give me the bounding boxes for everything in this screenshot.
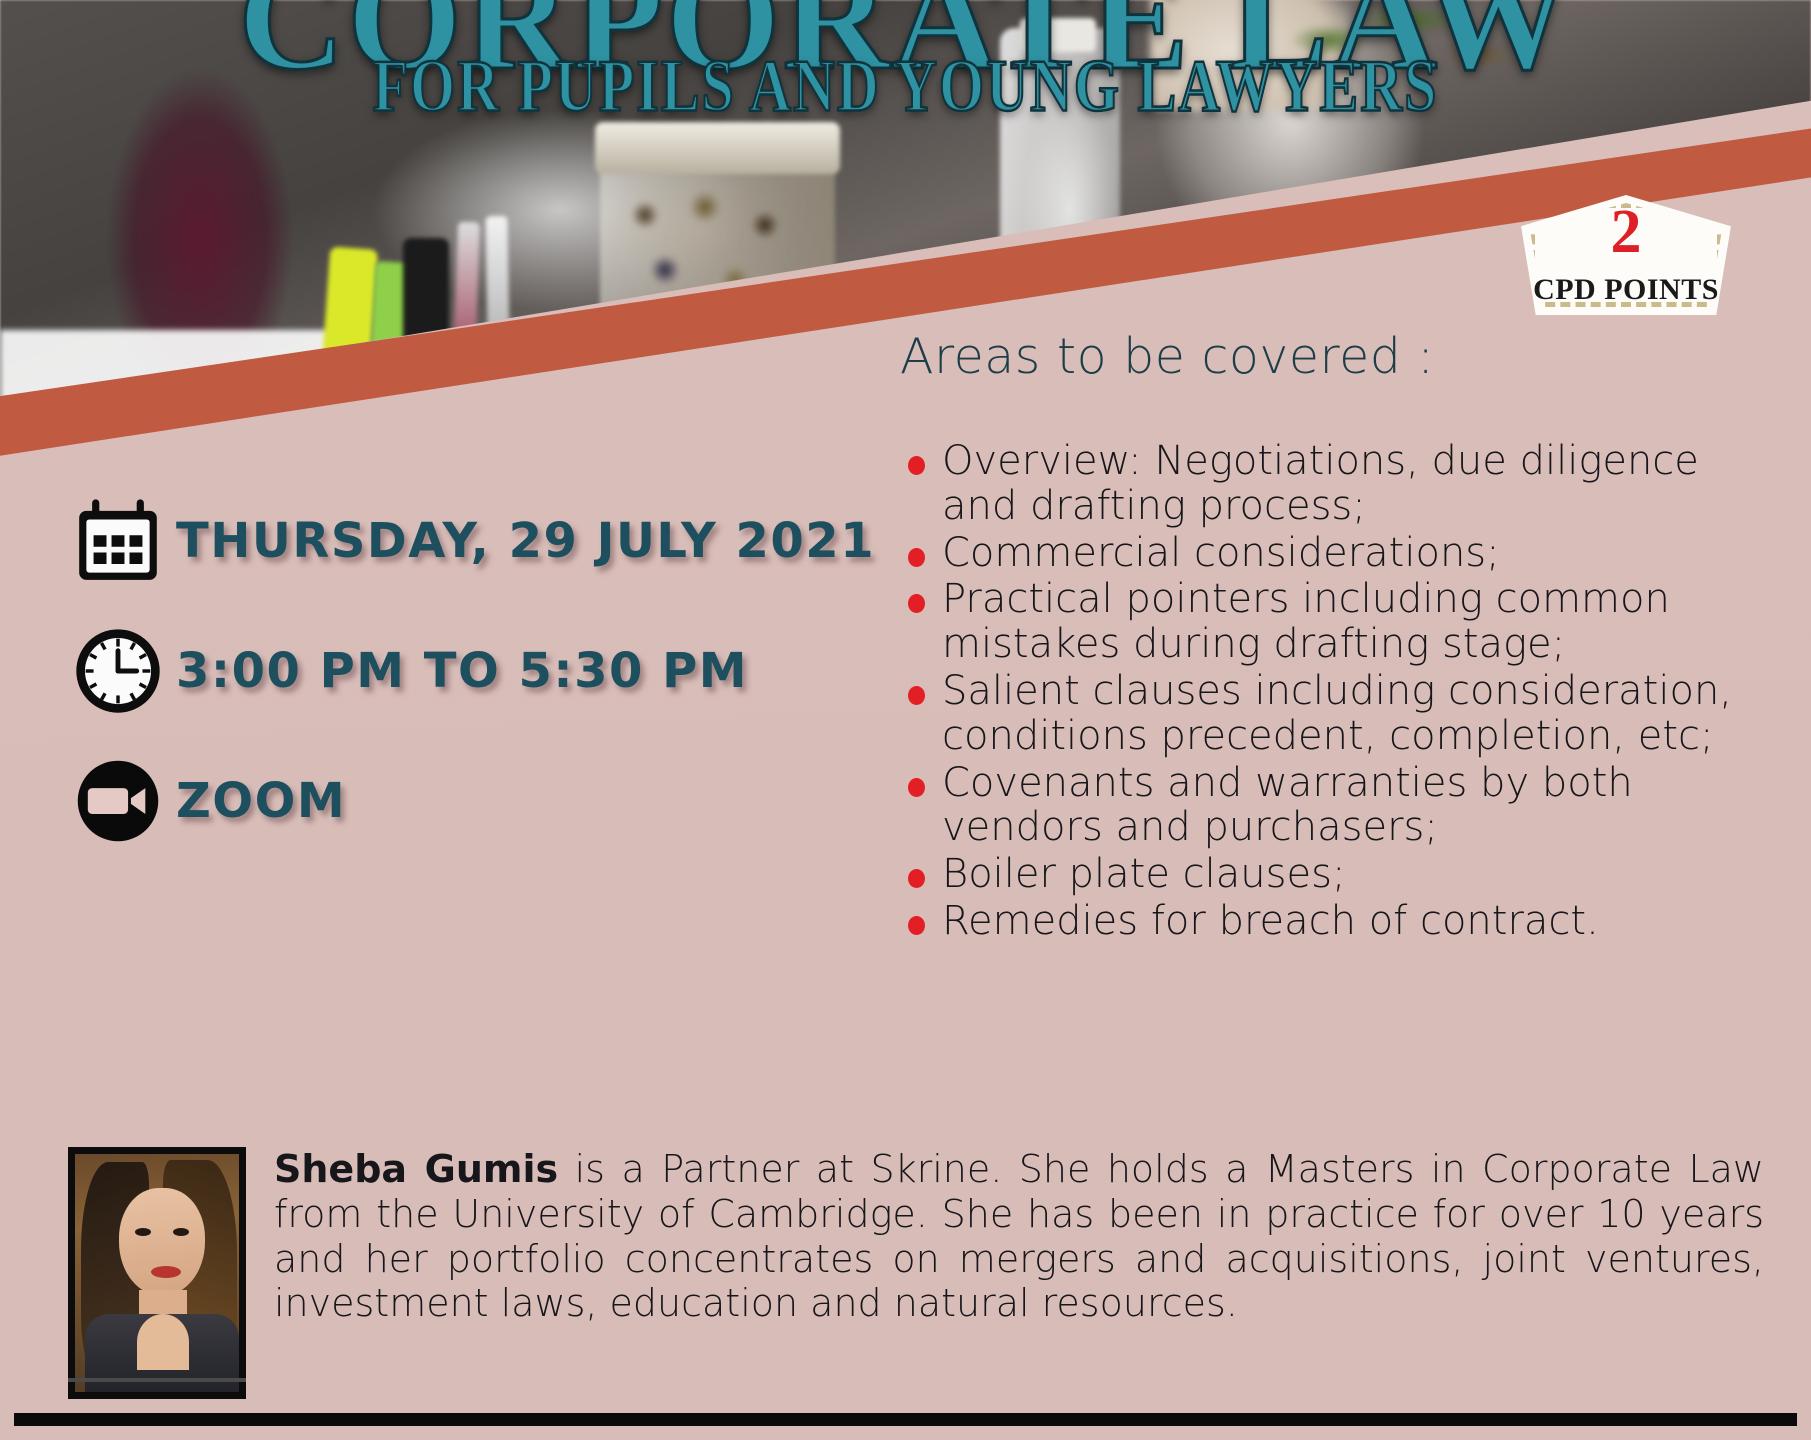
bullet-dot-icon (908, 548, 925, 567)
page-subtitle: FOR PUPILS AND YOUNG LAWYERS (373, 43, 1439, 129)
list-item: Covenants and warranties by both vendors… (900, 761, 1780, 851)
calendar-icon (72, 495, 176, 587)
avatar-lips (151, 1266, 181, 1278)
bullet-dot-icon (908, 916, 925, 935)
list-item-label: Salient clauses including consideration,… (942, 668, 1732, 759)
avatar (68, 1147, 246, 1399)
avatar-eye-left (135, 1228, 151, 1236)
avatar-neckline (137, 1314, 189, 1370)
list-item-label: Practical pointers including common mist… (942, 576, 1670, 667)
list-item: Remedies for breach of contract. (900, 899, 1780, 944)
avatar-eye-right (173, 1228, 189, 1236)
list-item: Overview: Negotiations, due diligence an… (900, 439, 1780, 529)
areas-to-be-covered-section: Areas to be covered : Overview: Negotiat… (900, 328, 1780, 946)
event-date-text: THURSDAY, 29 JULY 2021 (176, 513, 875, 569)
clock-icon (72, 625, 176, 717)
event-details-block: THURSDAY, 29 JULY 2021 (72, 482, 875, 860)
bullet-dot-icon (908, 456, 925, 475)
event-date-row: THURSDAY, 29 JULY 2021 (72, 482, 875, 600)
list-item-label: Overview: Negotiations, due diligence an… (942, 438, 1699, 529)
speaker-section: Sheba Gumis is a Partner at Skrine. She … (68, 1147, 1764, 1399)
cpd-points-badge: 2 CPD POINTS (1521, 195, 1731, 315)
footer-bar (14, 1413, 1797, 1426)
areas-bullet-list: Overview: Negotiations, due diligence an… (900, 439, 1780, 944)
list-item: Salient clauses including consideration,… (900, 669, 1780, 759)
divider-small (68, 1378, 246, 1382)
event-platform-text: ZOOM (176, 773, 346, 829)
list-item: Boiler plate clauses; (900, 852, 1780, 897)
avatar-face (119, 1188, 205, 1296)
list-item: Practical pointers including common mist… (900, 577, 1780, 667)
list-item-label: Covenants and warranties by both vendors… (942, 760, 1633, 851)
bullet-dot-icon (908, 778, 925, 797)
event-time-text: 3:00 PM TO 5:30 PM (176, 643, 748, 699)
speaker-bio: Sheba Gumis is a Partner at Skrine. She … (274, 1147, 1764, 1399)
video-camera-icon (72, 755, 176, 847)
speaker-name: Sheba Gumis (274, 1147, 558, 1191)
cpd-points-label: CPD POINTS (1521, 273, 1731, 307)
bullet-dot-icon (908, 869, 925, 888)
list-item: Commercial considerations; (900, 531, 1780, 576)
event-platform-row: ZOOM (72, 742, 875, 860)
list-item-label: Remedies for breach of contract. (942, 898, 1599, 944)
cpd-points-number: 2 (1521, 201, 1731, 263)
bullet-dot-icon (908, 594, 925, 613)
list-item-label: Boiler plate clauses; (942, 851, 1345, 897)
event-time-row: 3:00 PM TO 5:30 PM (72, 612, 875, 730)
list-item-label: Commercial considerations; (942, 530, 1500, 576)
areas-section-title: Areas to be covered : (900, 328, 1780, 385)
bullet-dot-icon (908, 686, 925, 705)
